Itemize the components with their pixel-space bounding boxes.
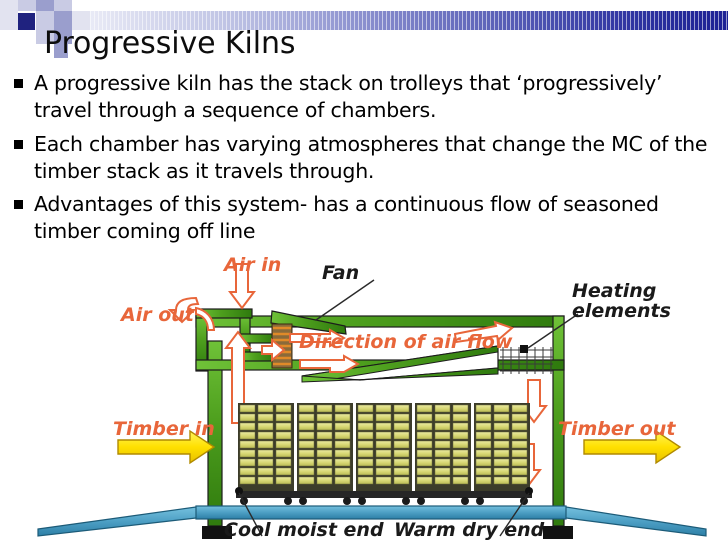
- label-air-in: Air in: [224, 254, 281, 276]
- bullet-list: A progressive kiln has the stack on trol…: [10, 70, 722, 252]
- timber-stack: [354, 403, 414, 505]
- timber-stack: [413, 403, 473, 505]
- column-footing-right: [543, 526, 573, 539]
- list-item: Advantages of this system- has a continu…: [10, 191, 722, 246]
- trolley-deck: [236, 491, 296, 498]
- label-warm-dry-end: Warm dry end: [394, 519, 544, 541]
- deco-square-1: [0, 0, 18, 11]
- label-fan: Fan: [322, 262, 359, 284]
- label-air-out: Air out: [121, 304, 194, 326]
- timber-stack: [472, 403, 532, 505]
- label-heating-elements-line2: elements: [572, 302, 671, 322]
- deco-square-dark: [18, 13, 35, 30]
- bullet-square-icon: [14, 140, 23, 149]
- label-direction-of-air-flow: Direction of air flow: [299, 331, 512, 353]
- bullet-square-icon: [14, 200, 23, 209]
- deco-square-4: [54, 0, 72, 11]
- timber-stack: [236, 403, 296, 505]
- label-timber-out: Timber out: [558, 418, 675, 440]
- deco-square-3: [36, 0, 54, 11]
- label-heating-elements: Heating elements: [572, 282, 671, 322]
- page-title: Progressive Kilns: [44, 26, 295, 61]
- label-timber-in: Timber in: [113, 418, 215, 440]
- bullet-text: Advantages of this system- has a continu…: [34, 191, 722, 246]
- heating-elements-anchor-dot: [520, 345, 528, 353]
- progressive-kiln-diagram: Air in Air out Fan Heating elements Dire…: [0, 248, 728, 546]
- bullet-square-icon: [14, 79, 23, 88]
- fan-leader-line: [316, 280, 374, 320]
- list-item: Each chamber has varying atmospheres tha…: [10, 131, 722, 186]
- deco-square-5: [0, 11, 18, 30]
- list-item: A progressive kiln has the stack on trol…: [10, 70, 722, 125]
- timber-stacks: [236, 403, 532, 505]
- bullet-text: A progressive kiln has the stack on trol…: [34, 70, 722, 125]
- trolley-wheel: [284, 497, 292, 505]
- bullet-text: Each chamber has varying atmospheres tha…: [34, 131, 722, 186]
- label-cool-moist-end: Cool moist end: [224, 519, 384, 541]
- timber-stack: [295, 403, 355, 505]
- label-heating-elements-line1: Heating: [572, 282, 671, 302]
- deco-square-2: [18, 0, 36, 11]
